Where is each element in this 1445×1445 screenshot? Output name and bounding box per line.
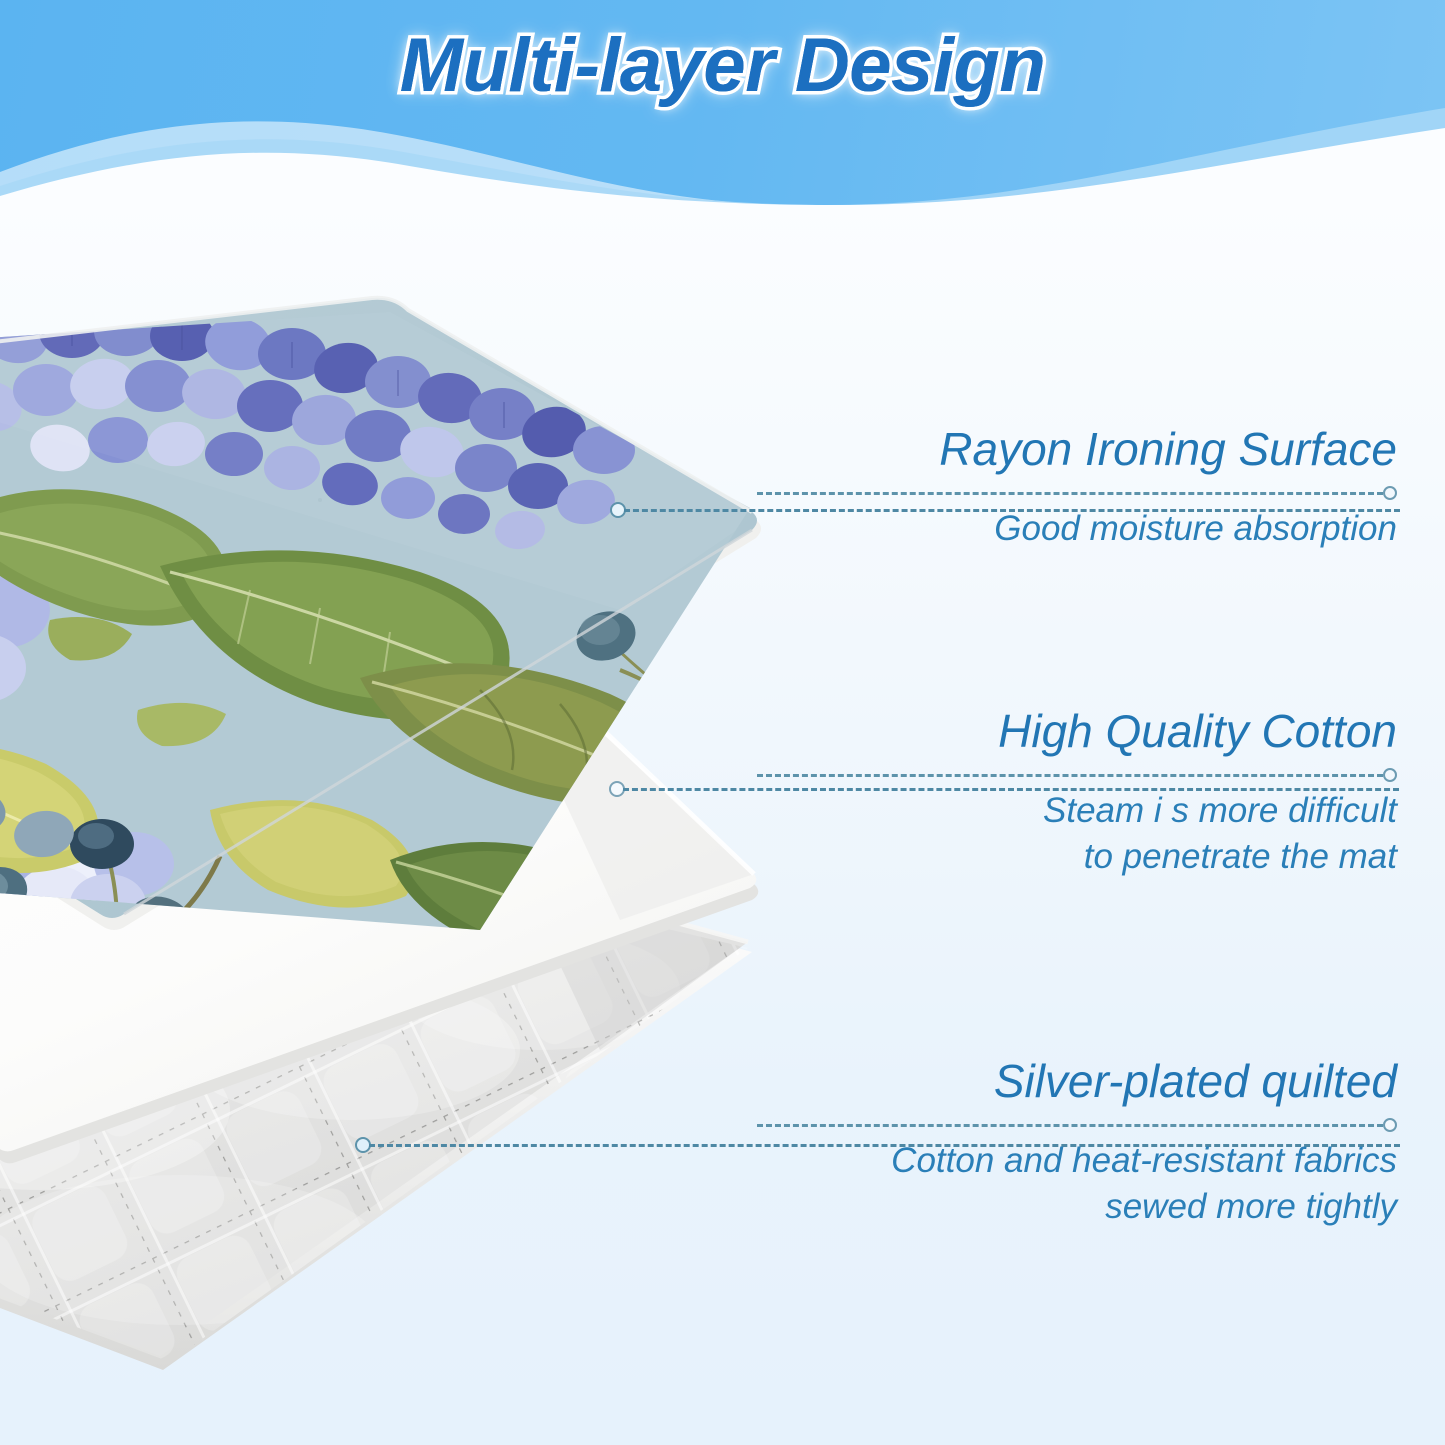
infographic-canvas: Multi-layer Design Multi-layer Design — [0, 0, 1445, 1445]
feature-block-rayon: Rayon Ironing Surface Good moisture abso… — [757, 424, 1397, 552]
feature-description-quilted-line-2: sewed more tightly — [757, 1184, 1397, 1230]
feature-block-cotton: High Quality Cotton Steam i s more diffi… — [757, 706, 1397, 880]
feature-divider-cotton — [757, 768, 1397, 782]
feature-divider-endcap-rayon — [1383, 486, 1397, 500]
feature-block-quilted: Silver-plated quilted Cotton and heat-re… — [757, 1056, 1397, 1230]
feature-description-quilted: Cotton and heat-resistant fabrics sewed … — [757, 1138, 1397, 1230]
page-title: Multi-layer Design — [0, 22, 1445, 109]
feature-title-rayon: Rayon Ironing Surface — [757, 424, 1397, 476]
feature-description-cotton-line-2: to penetrate the mat — [757, 834, 1397, 880]
feature-divider-endcap-cotton — [1383, 768, 1397, 782]
feature-divider-rayon — [757, 486, 1397, 500]
feature-divider-line-quilted — [757, 1124, 1383, 1127]
feature-divider-line-cotton — [757, 774, 1383, 777]
feature-description-cotton-line-1: Steam i s more difficult — [757, 788, 1397, 834]
feature-description-quilted-line-1: Cotton and heat-resistant fabrics — [757, 1138, 1397, 1184]
header-banner: Multi-layer Design Multi-layer Design — [0, 0, 1445, 205]
feature-title-quilted: Silver-plated quilted — [757, 1056, 1397, 1108]
feature-title-cotton: High Quality Cotton — [757, 706, 1397, 758]
feature-divider-line-rayon — [757, 492, 1383, 495]
feature-divider-quilted — [757, 1118, 1397, 1132]
feature-description-rayon: Good moisture absorption — [757, 506, 1397, 552]
feature-description-cotton: Steam i s more difficult to penetrate th… — [757, 788, 1397, 880]
product-layer-stack — [0, 290, 820, 1410]
feature-divider-endcap-quilted — [1383, 1118, 1397, 1132]
